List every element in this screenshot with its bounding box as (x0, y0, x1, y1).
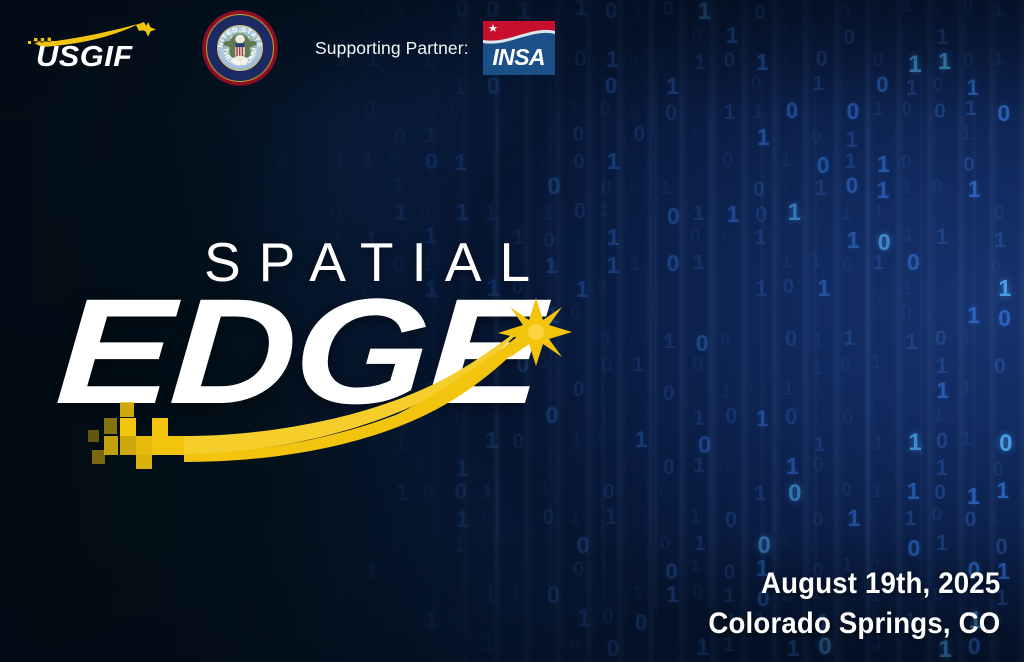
usgif-logo: USGIF (26, 21, 158, 77)
northcom-seal-center: UNITED STATES NORTHERN COMMAND (217, 25, 263, 71)
event-details: August 19th, 2025 Colorado Springs, CO (683, 564, 1000, 644)
event-date: August 19th, 2025 (708, 564, 1000, 604)
logo-bar: USGIF (0, 0, 1024, 96)
spatial-edge-banner: 1111000110101100101001100010110101110011… (0, 0, 1024, 662)
usgif-wordmark: USGIF (36, 41, 133, 74)
insa-wave-icon (483, 21, 555, 45)
svg-text:UNITED STATES: UNITED STATES (218, 26, 262, 49)
spatial-edge-wordmark: SPATIAL EDGE (62, 222, 582, 472)
event-location: Colorado Springs, CO (708, 604, 1000, 644)
insa-wordmark: INSA (483, 44, 555, 71)
edge-swoosh-icon (98, 310, 588, 460)
supporting-partner-label: Supporting Partner: (315, 38, 469, 59)
northcom-seal: UNITED STATES NORTHERN COMMAND (203, 11, 277, 85)
northcom-seal-text: UNITED STATES NORTHERN COMMAND (218, 26, 262, 70)
insa-logo: INSA (483, 21, 555, 75)
